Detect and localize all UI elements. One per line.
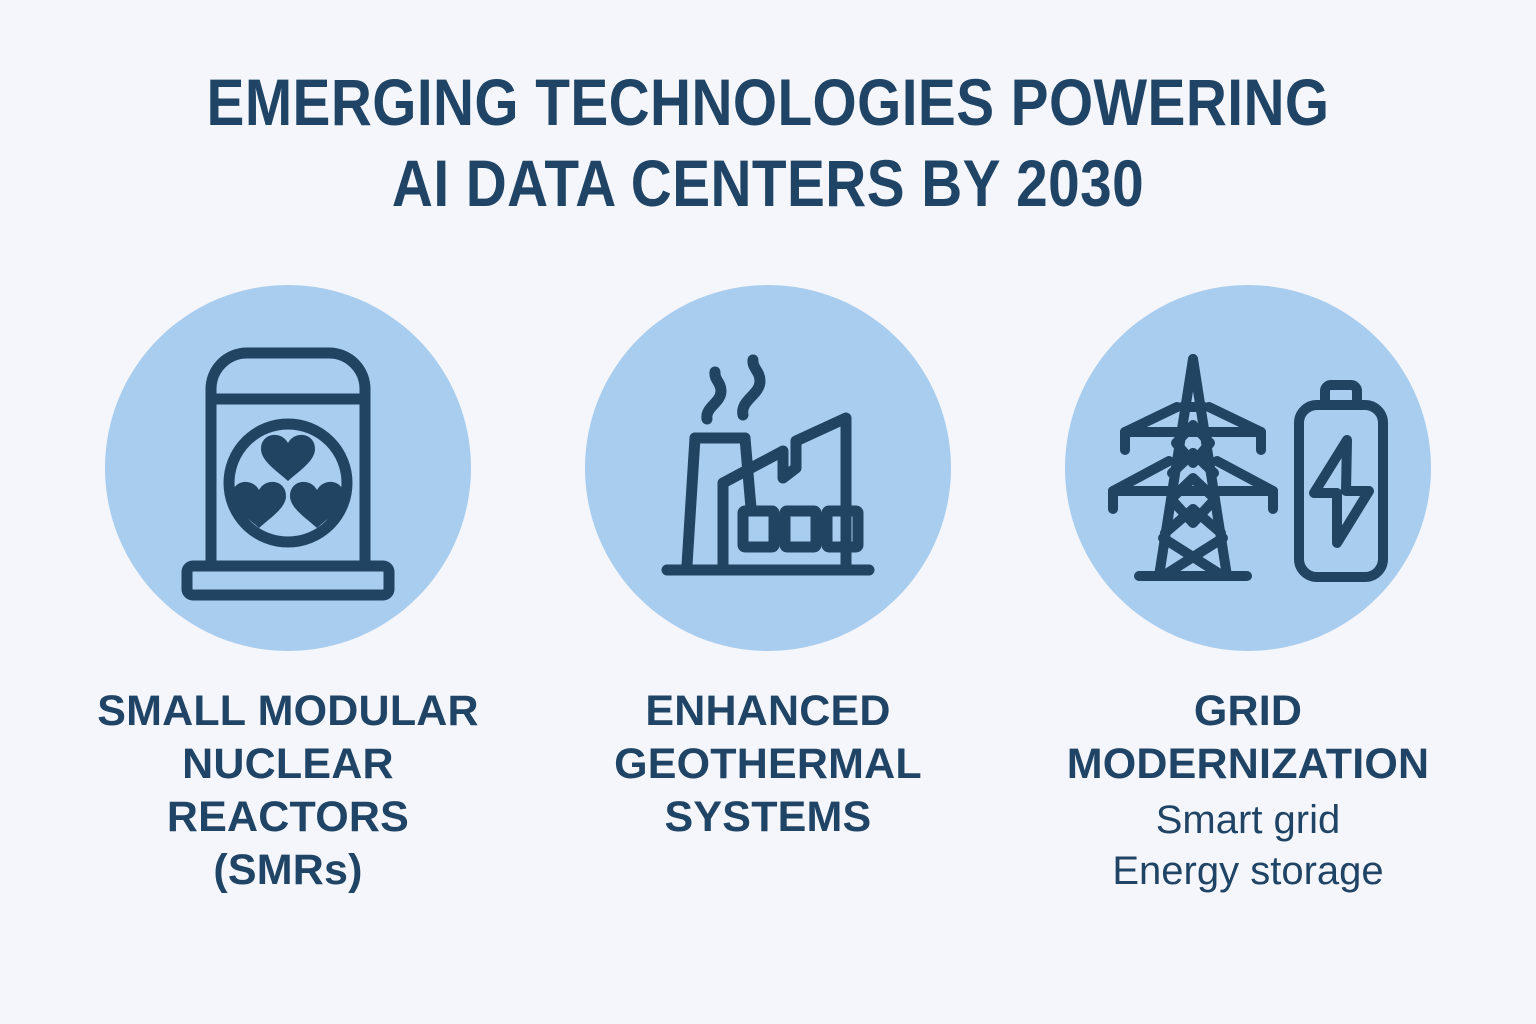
sublist-grid-modernization: Smart grid Energy storage <box>1112 795 1383 897</box>
caption-line: (SMRs) <box>97 844 479 897</box>
power-grid-badge <box>1065 285 1431 651</box>
nuclear-reactor-badge <box>105 285 471 651</box>
caption-line: ENHANCED <box>614 685 922 738</box>
caption-line: GEOTHERMAL <box>614 738 922 791</box>
caption-line: REACTORS <box>97 791 479 844</box>
sublist-item: Energy storage <box>1112 846 1383 897</box>
nuclear-reactor-icon <box>163 333 413 603</box>
caption-grid-modernization: GRID MODERNIZATION <box>1067 685 1430 791</box>
power-grid-icon <box>1103 333 1393 603</box>
column-grid-modernization: GRID MODERNIZATION Smart grid Energy sto… <box>1008 285 1488 897</box>
page-title: EMERGING TECHNOLOGIES POWERING AI DATA C… <box>0 62 1536 224</box>
lightning-bolt-icon <box>1314 440 1369 543</box>
technology-columns: SMALL MODULAR NUCLEAR REACTORS (SMRs) <box>0 285 1536 897</box>
column-enhanced-geothermal: ENHANCED GEOTHERMAL SYSTEMS <box>528 285 1008 844</box>
smoke-wisp <box>707 372 721 419</box>
geothermal-plant-icon <box>633 333 903 603</box>
transmission-tower-icon <box>1113 359 1273 576</box>
caption-line: GRID <box>1067 685 1430 738</box>
title-line-1: EMERGING TECHNOLOGIES POWERING <box>108 62 1429 143</box>
infographic-poster: EMERGING TECHNOLOGIES POWERING AI DATA C… <box>0 0 1536 1024</box>
battery-icon <box>1299 385 1383 577</box>
caption-line: SYSTEMS <box>614 791 922 844</box>
smoke-wisp <box>743 360 760 415</box>
title-line-2: AI DATA CENTERS BY 2030 <box>108 143 1429 224</box>
column-small-modular-reactors: SMALL MODULAR NUCLEAR REACTORS (SMRs) <box>48 285 528 897</box>
sublist-item: Smart grid <box>1112 795 1383 846</box>
caption-line: SMALL MODULAR <box>97 685 479 738</box>
caption-small-modular-reactors: SMALL MODULAR NUCLEAR REACTORS (SMRs) <box>97 685 479 897</box>
geothermal-plant-badge <box>585 285 951 651</box>
caption-enhanced-geothermal: ENHANCED GEOTHERMAL SYSTEMS <box>614 685 922 844</box>
caption-line: MODERNIZATION <box>1067 738 1430 791</box>
caption-line: NUCLEAR <box>97 738 479 791</box>
